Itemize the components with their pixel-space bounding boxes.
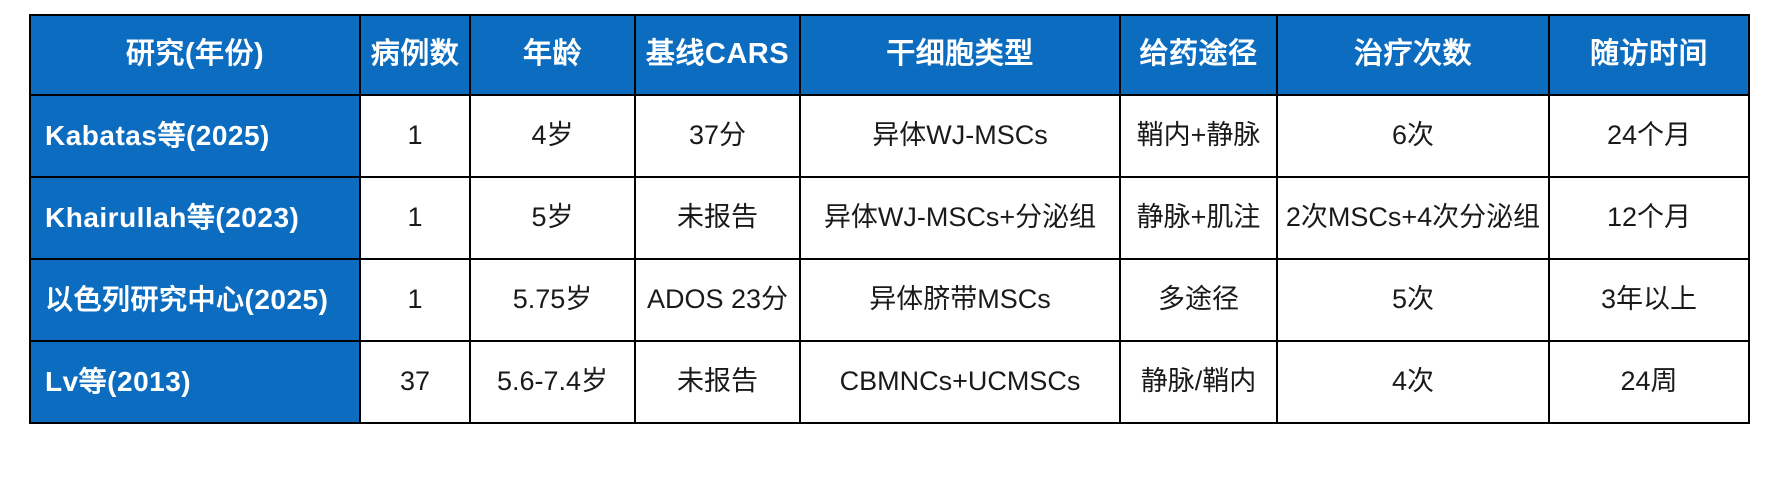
table-row: Lv等(2013) 37 5.6-7.4岁 未报告 CBMNCs+UCMSCs … [30,341,1749,423]
column-header-route: 给药途径 [1120,15,1277,95]
column-header-study: 研究(年份) [30,15,360,95]
cell-cars: 37分 [635,95,800,177]
table-row: 以色列研究中心(2025) 1 5.75岁 ADOS 23分 异体脐带MSCs … [30,259,1749,341]
cell-followup: 3年以上 [1549,259,1749,341]
cell-route: 多途径 [1120,259,1277,341]
column-header-cars: 基线CARS [635,15,800,95]
cell-age: 5岁 [470,177,635,259]
table-header-row: 研究(年份) 病例数 年龄 基线CARS 干细胞类型 给药途径 治疗次数 随访时… [30,15,1749,95]
cell-sessions: 2次MSCs+4次分泌组 [1277,177,1549,259]
cell-followup: 24个月 [1549,95,1749,177]
cell-cell-type: 异体WJ-MSCs+分泌组 [800,177,1120,259]
table-row: Khairullah等(2023) 1 5岁 未报告 异体WJ-MSCs+分泌组… [30,177,1749,259]
cell-study: Lv等(2013) [30,341,360,423]
column-header-sessions: 治疗次数 [1277,15,1549,95]
cell-cases: 1 [360,95,470,177]
cell-cell-type: 异体WJ-MSCs [800,95,1120,177]
cell-cell-type: 异体脐带MSCs [800,259,1120,341]
cell-route: 静脉+肌注 [1120,177,1277,259]
cell-cases: 37 [360,341,470,423]
cell-sessions: 6次 [1277,95,1549,177]
cell-followup: 12个月 [1549,177,1749,259]
cell-study: Kabatas等(2025) [30,95,360,177]
cell-study: 以色列研究中心(2025) [30,259,360,341]
cell-age: 5.75岁 [470,259,635,341]
cell-cars: ADOS 23分 [635,259,800,341]
cell-age: 5.6-7.4岁 [470,341,635,423]
cell-age: 4岁 [470,95,635,177]
column-header-age: 年龄 [470,15,635,95]
column-header-followup: 随访时间 [1549,15,1749,95]
cell-route: 静脉/鞘内 [1120,341,1277,423]
cell-study: Khairullah等(2023) [30,177,360,259]
column-header-cell-type: 干细胞类型 [800,15,1120,95]
study-comparison-table: 研究(年份) 病例数 年龄 基线CARS 干细胞类型 给药途径 治疗次数 随访时… [29,14,1750,424]
cell-cars: 未报告 [635,177,800,259]
study-comparison-table-container: 研究(年份) 病例数 年龄 基线CARS 干细胞类型 给药途径 治疗次数 随访时… [29,14,1748,424]
cell-cell-type: CBMNCs+UCMSCs [800,341,1120,423]
cell-cases: 1 [360,177,470,259]
cell-cases: 1 [360,259,470,341]
table-row: Kabatas等(2025) 1 4岁 37分 异体WJ-MSCs 鞘内+静脉 … [30,95,1749,177]
cell-sessions: 5次 [1277,259,1549,341]
cell-cars: 未报告 [635,341,800,423]
cell-route: 鞘内+静脉 [1120,95,1277,177]
cell-followup: 24周 [1549,341,1749,423]
column-header-cases: 病例数 [360,15,470,95]
cell-sessions: 4次 [1277,341,1549,423]
